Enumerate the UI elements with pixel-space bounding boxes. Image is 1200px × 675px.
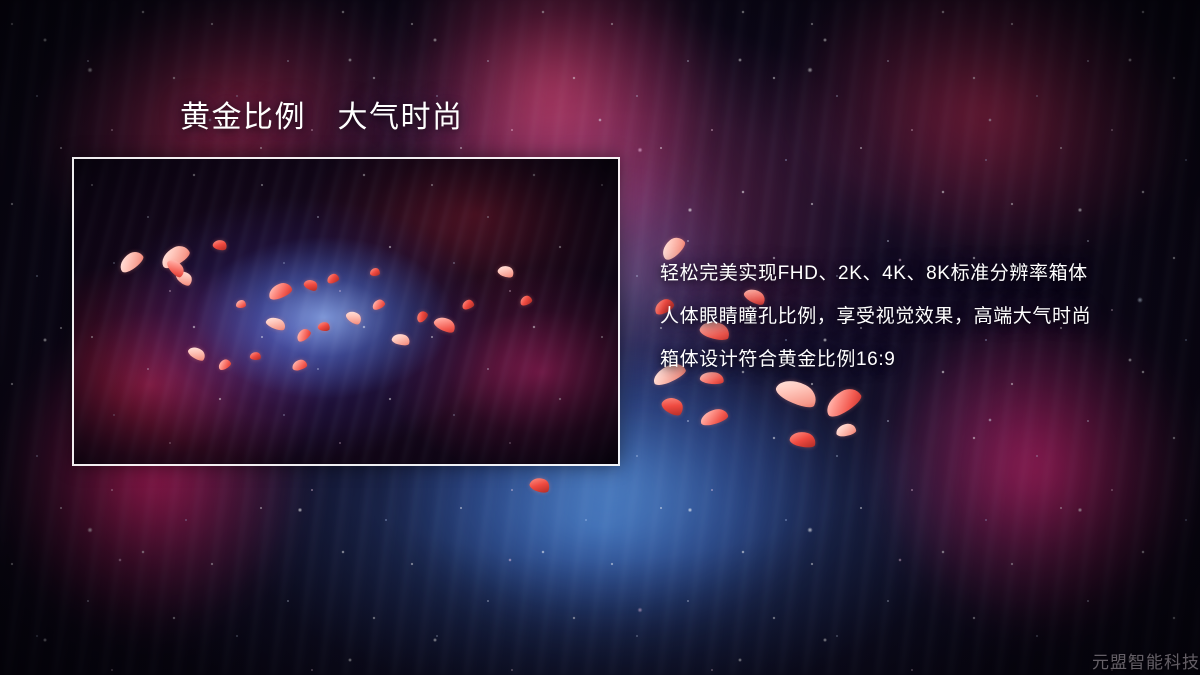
watermark-label: 元盟智能科技 <box>1092 648 1200 673</box>
presentation-slide: 黄金比例 大气时尚 轻松完美实现FHD、2K、4K、8K标准分辨率箱体 人体眼睛… <box>0 0 1200 675</box>
page-title: 黄金比例 大气时尚 <box>180 101 464 134</box>
panel-vignette <box>74 159 618 464</box>
galaxy-preview-panel[interactable] <box>72 157 620 466</box>
feature-description: 轻松完美实现FHD、2K、4K、8K标准分辨率箱体 人体眼睛瞳孔比例，享受视觉效… <box>660 252 1180 381</box>
feature-line-2: 人体眼睛瞳孔比例，享受视觉效果，高端大气时尚 <box>660 295 1180 338</box>
feature-line-1: 轻松完美实现FHD、2K、4K、8K标准分辨率箱体 <box>660 252 1180 295</box>
panel-image <box>74 159 618 464</box>
feature-line-3: 箱体设计符合黄金比例16:9 <box>660 338 1180 381</box>
